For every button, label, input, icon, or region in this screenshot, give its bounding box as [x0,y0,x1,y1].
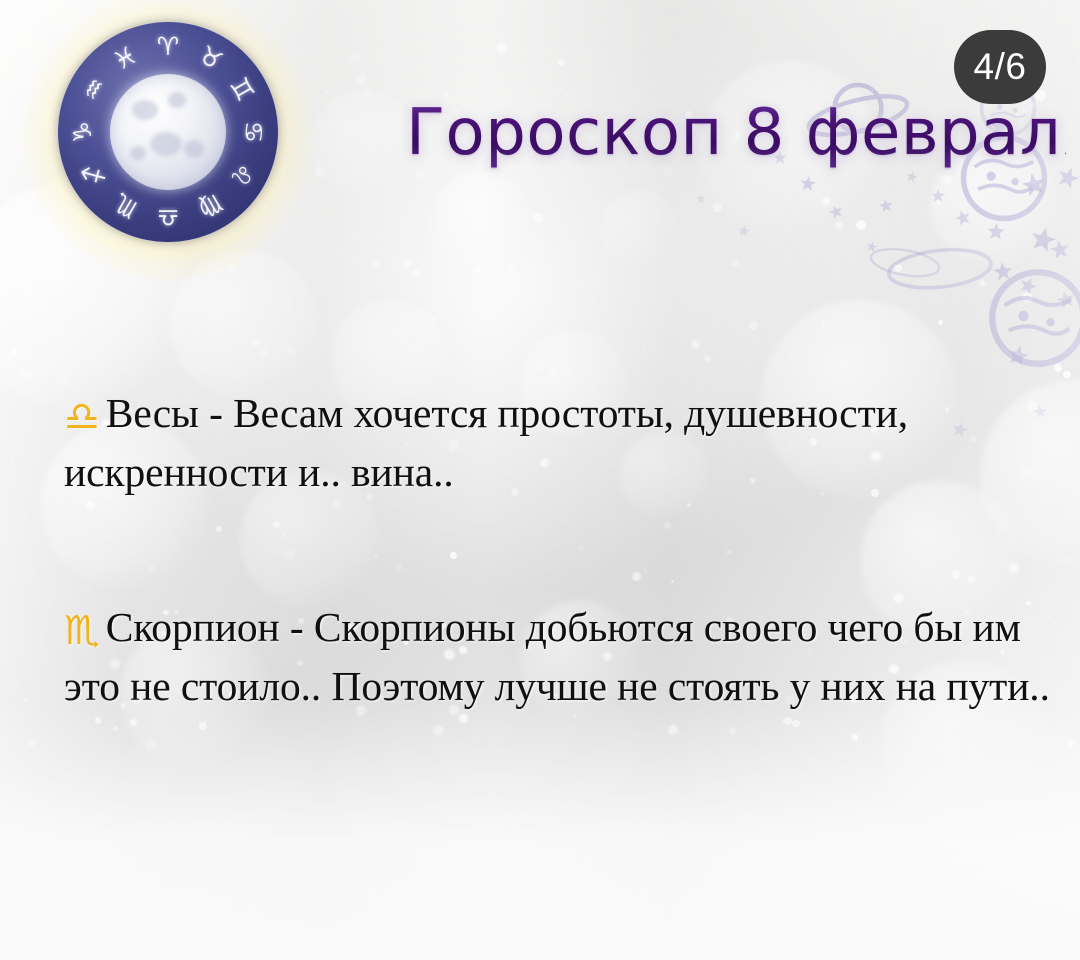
bokeh-sparkle [258,348,268,358]
star-icon [865,239,879,253]
bokeh-sparkle [130,719,137,726]
background-bottom-fade [0,700,1080,960]
bokeh-sparkle [10,347,18,355]
wheel-disc: ♈♉♊♋♌♍♎♏♐♑♒♓ [58,22,278,242]
aries-icon: ♈ [153,32,183,62]
bokeh-sparkle [942,279,944,281]
bokeh-sparkle [643,345,646,348]
bokeh-sparkle [852,734,858,740]
bokeh-sparkle [938,320,943,325]
bokeh-sparkle [372,260,381,269]
virgo-icon: ♍ [190,185,231,226]
bokeh-sparkle [870,88,874,92]
bokeh-sparkle [316,169,325,178]
bokeh-sparkle [251,338,260,347]
horoscope-entry-text: ♎Весы - Весам хочется простоты, душевнос… [64,384,1056,502]
bokeh-sparkle [894,264,902,272]
bokeh-sparkle [430,316,438,324]
bokeh-sparkle [731,260,739,268]
bokeh-sparkle [1022,292,1032,302]
star-icon [1055,289,1077,311]
bokeh-sparkle [363,91,373,101]
bokeh-sparkle [356,74,366,84]
bokeh-sparkle [936,200,942,206]
horoscope-entry-text: ♏Скорпион - Скорпионы добьются своего че… [64,598,1056,716]
star-icon [799,175,817,193]
bokeh-sparkle [641,227,644,230]
zodiac-wheel-logo: ♈♉♊♋♌♍♎♏♐♑♒♓ [58,22,278,242]
bokeh-sparkle [146,739,157,750]
star-icon [827,203,845,221]
horoscope-entry: ♎Весы - Весам хочется простоты, душевнос… [64,384,1056,502]
star-icon [1020,171,1048,199]
bokeh-sparkle [1033,179,1040,186]
bokeh-sparkle [21,369,32,380]
leo-icon: ♌ [221,154,262,195]
bokeh-sparkle [27,738,36,747]
cancer-icon: ♋ [238,117,268,147]
bokeh-sparkle [287,345,296,354]
planet-icon [986,266,1080,370]
bokeh-sparkle [412,269,420,277]
bokeh-sparkle [1063,371,1071,379]
bokeh-sparkle [792,720,800,728]
bokeh-sparkle [113,726,118,731]
star-icon [1016,274,1039,297]
bokeh-sparkle [9,302,11,304]
bokeh-sparkle [979,280,986,287]
bokeh-sparkle [705,187,707,189]
horoscope-entries-list: ♎Весы - Весам хочется простоты, душевнос… [64,384,1056,716]
bokeh-sparkle [1064,557,1069,562]
bokeh-sparkle [95,717,102,724]
bokeh-sparkle [25,698,28,701]
bokeh-sparkle [45,50,47,52]
bokeh-circle [430,170,530,270]
bokeh-sparkle [1015,185,1018,188]
star-icon [737,223,751,237]
bokeh-sparkle [835,221,843,229]
star-icon [1005,343,1031,369]
horoscope-entry-body: Весы - Весам хочется простоты, душевност… [64,390,908,495]
star-icon [992,261,1014,283]
bokeh-sparkle [419,318,422,321]
bokeh-sparkle [386,115,391,120]
capricorn-icon: ♑ [68,117,98,147]
bokeh-sparkle [433,725,444,736]
bokeh-sparkle [533,213,543,223]
bokeh-sparkle [302,301,305,304]
star-icon [694,190,706,202]
bokeh-circle [310,90,420,200]
bokeh-sparkle [1027,177,1037,187]
horoscope-entry: ♏Скорпион - Скорпионы добьются своего че… [64,598,1056,716]
bokeh-sparkle [558,327,562,331]
bokeh-sparkle [713,203,722,212]
bokeh-sparkle [704,355,711,362]
bokeh-sparkle [783,717,791,725]
bokeh-sparkle [199,722,207,730]
bokeh-sparkle [558,60,564,66]
bokeh-sparkle [411,348,415,352]
star-icon [953,208,973,228]
bokeh-sparkle [548,365,558,375]
gemini-icon: ♊ [221,69,262,110]
taurus-icon: ♉ [190,38,231,79]
bokeh-sparkle [821,322,826,327]
bokeh-sparkle [10,459,14,463]
bokeh-sparkle [516,302,523,309]
orbit-ring-icon [866,240,945,286]
bokeh-sparkle [496,43,507,54]
bokeh-sparkle [942,175,952,185]
pisces-icon: ♓ [105,38,146,79]
bokeh-sparkle [856,220,867,231]
bokeh-sparkle [508,265,514,271]
bokeh-sparkle [474,265,482,273]
scorpio-icon: ♏ [105,185,146,226]
bokeh-sparkle [696,278,699,281]
horoscope-card: ♈♉♊♋♌♍♎♏♐♑♒♓ Гороскоп 8 февраля 4/6 ♎Вес… [0,0,1080,960]
page-title: Гороскоп 8 февраля [406,96,1066,172]
star-icon [878,198,894,214]
page-counter-badge: 4/6 [954,30,1046,104]
horoscope-entry-body: Скорпион - Скорпионы добьются своего чег… [64,604,1050,709]
scorpio-icon: ♏ [64,611,100,651]
libra-icon: ♎ [153,202,183,232]
bokeh-sparkle [822,197,830,205]
orbit-ring-icon [883,238,998,299]
bokeh-sparkle [325,91,328,94]
bokeh-sparkle [833,205,837,209]
bokeh-sparkle [1054,364,1062,372]
star-icon [931,189,945,203]
aquarius-icon: ♒ [74,69,115,110]
bokeh-sparkle [535,361,546,372]
bokeh-sparkle [1066,739,1075,748]
star-icon [986,222,1005,241]
sagittarius-icon: ♐ [74,154,115,195]
star-icon [1048,238,1071,261]
star-icon [1027,224,1059,256]
moon-icon [110,74,226,190]
bokeh-circle [600,190,680,270]
bokeh-sparkle [403,260,412,269]
bokeh-sparkle [691,340,701,350]
bokeh-sparkle [668,725,678,735]
bokeh-sparkle [652,378,654,380]
bokeh-sparkle [349,52,358,61]
bokeh-sparkle [749,321,758,330]
bokeh-sparkle [532,261,537,266]
bokeh-sparkle [729,727,736,734]
libra-icon: ♎ [64,397,100,437]
